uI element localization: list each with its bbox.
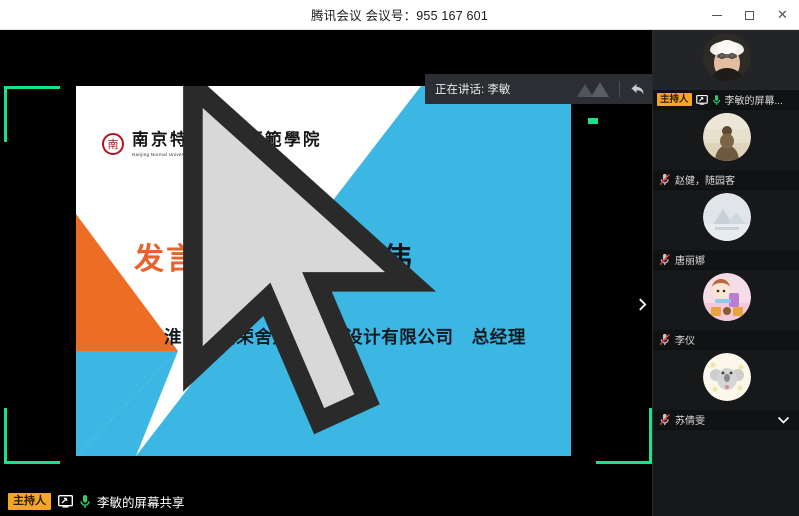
participant-tile[interactable]: 李仪 (653, 270, 799, 350)
maximize-button[interactable] (733, 0, 766, 30)
participant-tile[interactable]: 苏倩雯 (653, 350, 799, 430)
share-border-bottom-right (596, 408, 652, 464)
participant-tile[interactable]: 赵健，随园客 (653, 110, 799, 190)
avatar (703, 193, 751, 241)
speaking-indicator: 正在讲话: 李敏 (425, 74, 655, 104)
participant-name: 苏倩雯 (675, 412, 705, 427)
share-border-bottom-left (4, 408, 60, 464)
maximize-icon (745, 11, 754, 20)
microphone-muted-icon (659, 333, 671, 346)
microphone-muted-icon (659, 413, 671, 426)
chevron-right-icon (638, 297, 647, 312)
microphone-muted-icon (659, 253, 671, 266)
shared-screen-area[interactable]: 南 南京特殊教育師範學院 Nanjing Normal University o… (76, 86, 571, 456)
share-status-bar: 主持人 李敏的屏幕共享 (0, 486, 652, 516)
speaking-indicator-icons (577, 74, 655, 104)
screen-share-icon (58, 495, 73, 508)
participant-name: 李敏的屏幕... (725, 92, 783, 107)
participant-label-bar: 唐丽娜 (653, 250, 799, 269)
woman-white-hat-avatar-icon (703, 33, 751, 81)
screen-share-icon (696, 95, 708, 105)
koala-avatar-icon (703, 353, 751, 401)
close-button[interactable]: ✕ (766, 0, 799, 30)
avatar (703, 273, 751, 321)
participant-label-bar: 李仪 (653, 330, 799, 349)
toast-divider (619, 81, 620, 97)
share-border-top-left (4, 86, 60, 142)
participant-label-bar: 赵健，随园客 (653, 170, 799, 189)
participant-name: 赵健，随园客 (675, 172, 735, 187)
participant-name: 李仪 (675, 332, 695, 347)
participant-tile[interactable]: 主持人 李敏的屏幕... (653, 30, 799, 110)
avatar (703, 353, 751, 401)
back-arrow-icon[interactable] (629, 81, 646, 98)
share-border-top-right (588, 118, 598, 124)
minimize-button[interactable] (700, 0, 733, 30)
window-controls: ✕ (700, 0, 799, 30)
cartoon-girl-avatar-icon (703, 273, 751, 321)
collapse-panel-chevron-icon[interactable] (634, 292, 650, 316)
participant-label-bar: 主持人 李敏的屏幕... (653, 90, 799, 109)
participant-tile[interactable]: 唐丽娜 (653, 190, 799, 270)
chevron-down-icon[interactable] (777, 416, 790, 424)
participants-panel[interactable]: 主持人 李敏的屏幕... (652, 30, 799, 516)
host-badge: 主持人 (8, 493, 51, 510)
window-title: 腾讯会议 会议号：955 167 601 (311, 5, 488, 24)
presentation-slide: 南 南京特殊教育師範學院 Nanjing Normal University o… (76, 86, 571, 456)
man-beach-avatar-icon (703, 113, 751, 161)
participant-label-bar: 苏倩雯 (653, 410, 799, 429)
microphone-on-icon (712, 94, 721, 106)
avatar (703, 33, 751, 81)
mountain-photo-avatar-icon (703, 193, 751, 241)
share-status-text: 李敏的屏幕共享 (97, 492, 185, 511)
avatar (703, 113, 751, 161)
title-bar: 腾讯会议 会议号：955 167 601 ✕ (0, 0, 799, 30)
close-icon: ✕ (777, 9, 788, 22)
host-badge: 主持人 (657, 93, 692, 107)
speaking-text: 正在讲话: 李敏 (435, 81, 510, 97)
participant-name: 唐丽娜 (675, 252, 705, 267)
mouse-cursor-icon (76, 86, 571, 456)
microphone-on-icon (79, 494, 91, 509)
tencent-meeting-window: 腾讯会议 会议号：955 167 601 ✕ (0, 0, 799, 516)
minimize-icon (712, 15, 722, 16)
microphone-muted-icon (659, 173, 671, 186)
mountain-logo-icon (577, 81, 613, 97)
